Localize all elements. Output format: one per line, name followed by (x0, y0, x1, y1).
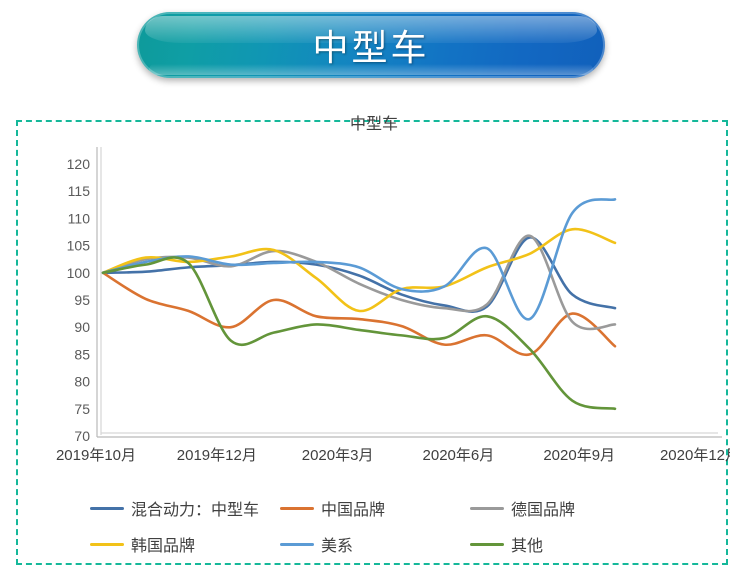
y-tick-label: 80 (74, 374, 90, 390)
legend-item[interactable]: 美系 (280, 526, 470, 562)
line-chart: 120115110105100959085807570 2019年10月2019… (18, 122, 730, 482)
legend-color-swatch (470, 543, 504, 546)
legend-item-label: 混合动力：中型车 (131, 496, 259, 520)
x-tick-label: 2019年12月 (177, 447, 257, 464)
legend-color-swatch (90, 507, 124, 510)
y-tick-label: 90 (74, 319, 90, 335)
y-tick-label: 85 (74, 346, 90, 362)
chart-series-lines (103, 199, 615, 408)
title-banner: 中型车 (137, 12, 605, 78)
legend-item[interactable]: 混合动力：中型车 (90, 490, 280, 526)
chart-region: 中型车 120115110105100959085807570 2019年10月… (16, 120, 728, 565)
y-tick-label: 100 (67, 265, 91, 281)
legend-item-label: 德国品牌 (511, 496, 575, 520)
y-tick-label: 115 (68, 183, 91, 199)
y-tick-label: 95 (74, 292, 90, 308)
legend-color-swatch (280, 507, 314, 510)
chart-axes (97, 147, 722, 437)
x-tick-label: 2020年3月 (302, 447, 374, 464)
legend-color-swatch (280, 543, 314, 546)
x-tick-label: 2020年12月 (660, 447, 730, 464)
y-tick-label: 70 (74, 428, 90, 444)
legend-item[interactable]: 其他 (470, 526, 660, 562)
legend-item[interactable]: 中国品牌 (280, 490, 470, 526)
legend-color-swatch (90, 543, 124, 546)
legend-color-swatch (470, 507, 504, 510)
legend-item-label: 其他 (511, 532, 543, 556)
x-tick-label: 2020年9月 (543, 447, 615, 464)
title-banner-area: 中型车 (0, 0, 744, 96)
y-tick-label: 110 (68, 210, 91, 226)
legend-item-label: 中国品牌 (321, 496, 385, 520)
legend-item-label: 美系 (321, 532, 353, 556)
y-tick-label: 75 (74, 401, 90, 417)
y-tick-label: 105 (67, 238, 91, 254)
legend-item[interactable]: 德国品牌 (470, 490, 660, 526)
chart-legend: 混合动力：中型车中国品牌德国品牌韩国品牌美系其他 (90, 490, 670, 562)
banner-title-text: 中型车 (137, 12, 605, 78)
x-tick-label: 2020年6月 (423, 447, 495, 464)
x-axis-tick-labels: 2019年10月2019年12月2020年3月2020年6月2020年9月202… (56, 447, 730, 464)
x-tick-label: 2019年10月 (56, 447, 136, 464)
series-line (103, 257, 615, 408)
legend-item-label: 韩国品牌 (131, 532, 195, 556)
y-axis-tick-labels: 120115110105100959085807570 (67, 156, 91, 444)
y-tick-label: 120 (67, 156, 91, 172)
legend-item[interactable]: 韩国品牌 (90, 526, 280, 562)
